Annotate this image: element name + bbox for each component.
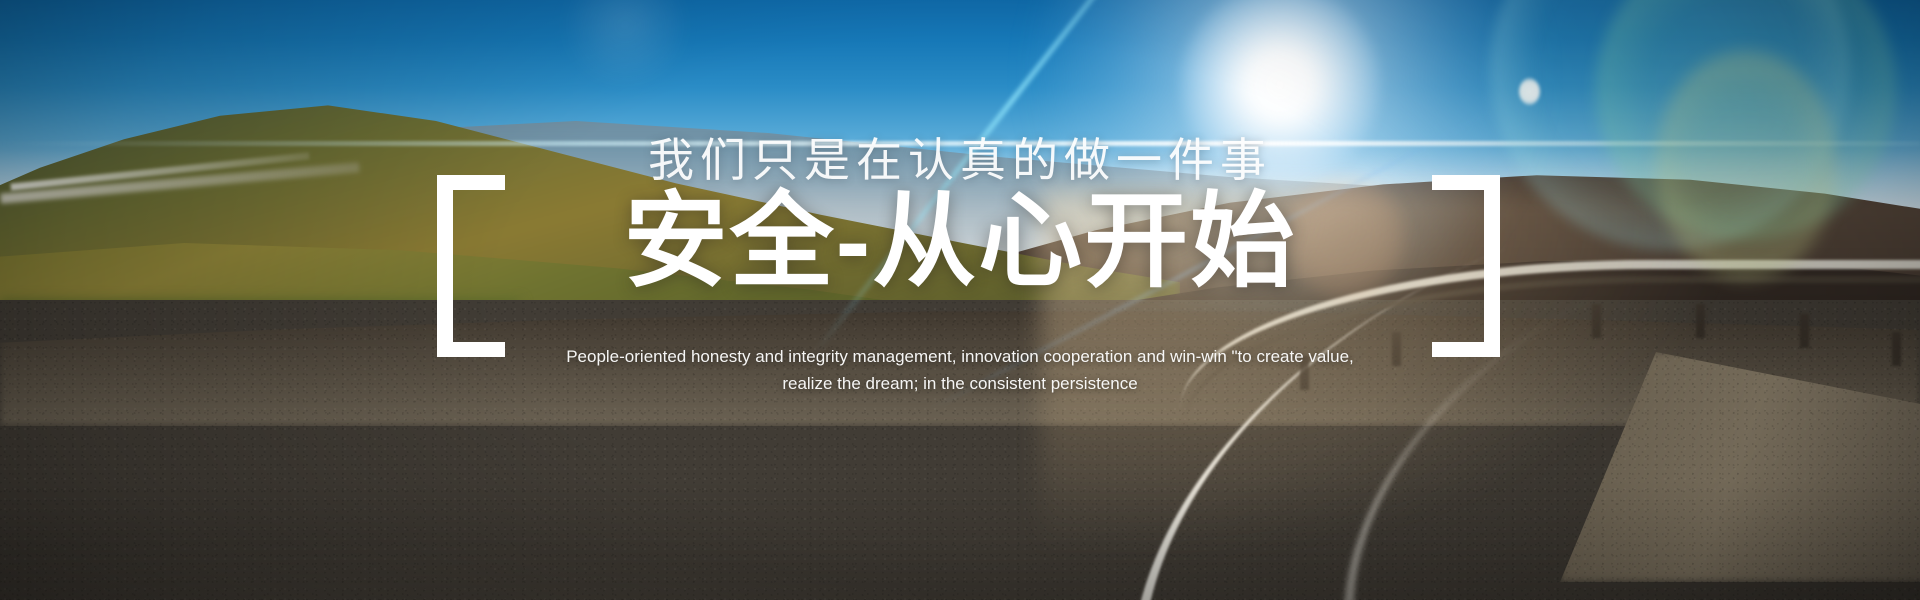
hero-banner: 我们只是在认真的做一件事 安全-从心开始 People-oriented hon… bbox=[0, 0, 1920, 600]
bracket-right-bottom-arm bbox=[1432, 342, 1500, 357]
banner-subtitle: People-oriented honesty and integrity ma… bbox=[545, 344, 1375, 398]
banner-headline: 安全-从心开始 bbox=[0, 186, 1920, 298]
banner-eyebrow-text: 我们只是在认真的做一件事 bbox=[0, 124, 1920, 190]
bracket-left-bottom-arm bbox=[437, 342, 505, 357]
banner-content: 我们只是在认真的做一件事 安全-从心开始 People-oriented hon… bbox=[0, 0, 1920, 600]
banner-subtitle-line2: the dream; in the consistent persistence bbox=[837, 374, 1138, 393]
